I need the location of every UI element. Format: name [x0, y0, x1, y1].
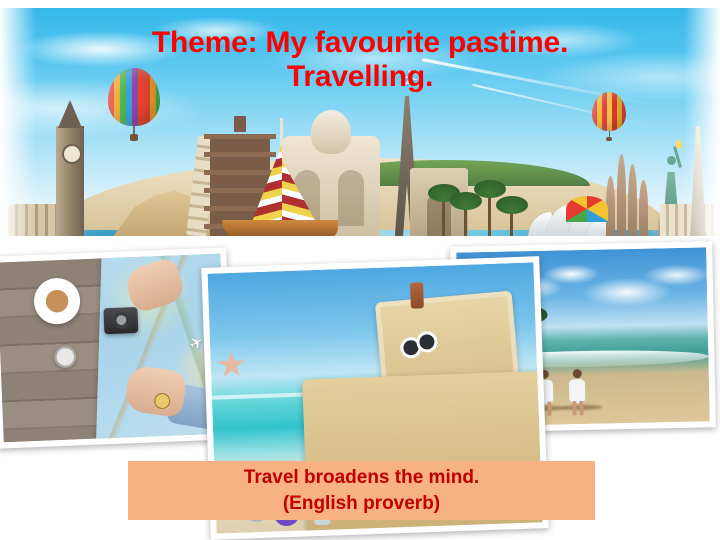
presentation-slide: ✈	[0, 0, 720, 540]
proverb-line1: Travel broadens the mind.	[244, 465, 479, 490]
lincoln-memorial-icon	[660, 204, 720, 236]
suitcase-strap-top	[410, 282, 424, 308]
slide-title-line2: Travelling.	[0, 60, 720, 94]
palm-trees-icon	[436, 166, 526, 236]
photo-map-planning[interactable]: ✈	[0, 247, 234, 448]
camera-icon	[104, 307, 139, 334]
sailboat-icon	[222, 118, 342, 236]
big-ben-icon	[56, 126, 84, 236]
slide-title: Theme: My favourite pastime. Travelling.	[0, 26, 720, 94]
runner-woman-icon	[569, 369, 586, 403]
sagrada-familia-icon	[604, 148, 650, 236]
proverb-line2: (English proverb)	[283, 491, 440, 516]
hot-air-balloon-red-yellow-icon	[592, 92, 626, 142]
beach-umbrella-icon	[566, 196, 608, 222]
photo-map-planning-image: ✈	[0, 254, 228, 443]
slide-title-line1: Theme: My favourite pastime.	[152, 26, 568, 59]
proverb-box: Travel broadens the mind. (English prove…	[128, 461, 595, 520]
